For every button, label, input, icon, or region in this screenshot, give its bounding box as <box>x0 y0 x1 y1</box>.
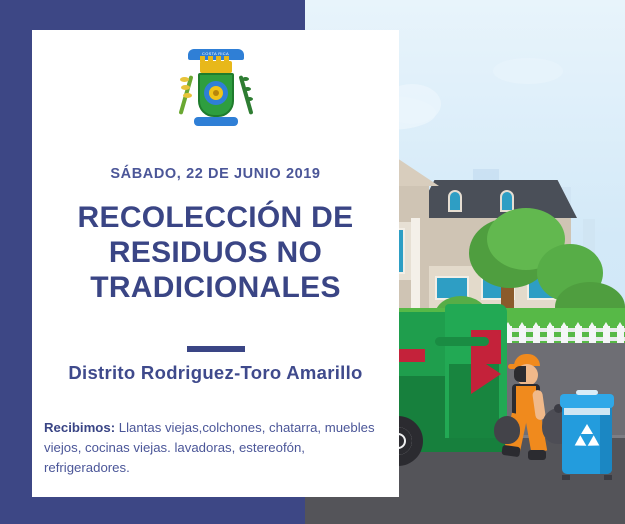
coat-of-arms: COSTA RICA <box>32 46 399 132</box>
wheat-grain <box>183 93 192 98</box>
poster-content-card: COSTA RICA SÁBADO, 22 DE JUNIO 2019 RECO… <box>32 30 399 497</box>
worker-hair <box>514 366 526 382</box>
crest-sun-icon <box>209 86 223 100</box>
event-date: SÁBADO, 22 DE JUNIO 2019 <box>32 166 399 182</box>
headline-line-2: RESIDUOS NO <box>50 235 381 270</box>
bin-handle <box>576 390 598 395</box>
crest-bottom-ribbon <box>194 117 238 126</box>
accepted-items-label: Recibimos: <box>44 420 115 435</box>
cloud-icon <box>493 58 563 84</box>
crest-crown <box>200 61 232 73</box>
blue-recycling-bin <box>560 390 614 476</box>
truck-red-arrow <box>471 354 501 394</box>
recycle-icon <box>573 424 601 450</box>
worker-boot <box>528 450 546 460</box>
dormer-window <box>443 182 469 216</box>
laurel-branch-icon <box>238 75 253 115</box>
bin-band <box>564 408 610 415</box>
bin-lid <box>560 394 614 408</box>
worker-boot <box>501 445 520 457</box>
poster-canvas: COSTA RICA SÁBADO, 22 DE JUNIO 2019 RECO… <box>0 0 625 524</box>
divider <box>187 346 245 352</box>
bin-foot <box>604 475 612 480</box>
laurel-leaf <box>246 97 253 101</box>
wheat-grain <box>180 77 189 82</box>
laurel-leaf <box>242 77 249 81</box>
garbage-bag <box>494 416 520 444</box>
headline-line-3: TRADICIONALES <box>50 270 381 305</box>
accepted-items-text: Recibimos: Llantas viejas,colchones, cha… <box>44 418 389 477</box>
bin-foot <box>562 475 570 480</box>
laurel-leaf <box>244 87 251 91</box>
truck-hydraulic-arm <box>435 337 489 346</box>
wheat-grain <box>181 85 190 90</box>
district-name: Distrito Rodriguez-Toro Amarillo <box>32 362 399 384</box>
page-title: RECOLECCIÓN DE RESIDUOS NO TRADICIONALES <box>50 200 381 305</box>
headline-line-1: RECOLECCIÓN DE <box>50 200 381 235</box>
